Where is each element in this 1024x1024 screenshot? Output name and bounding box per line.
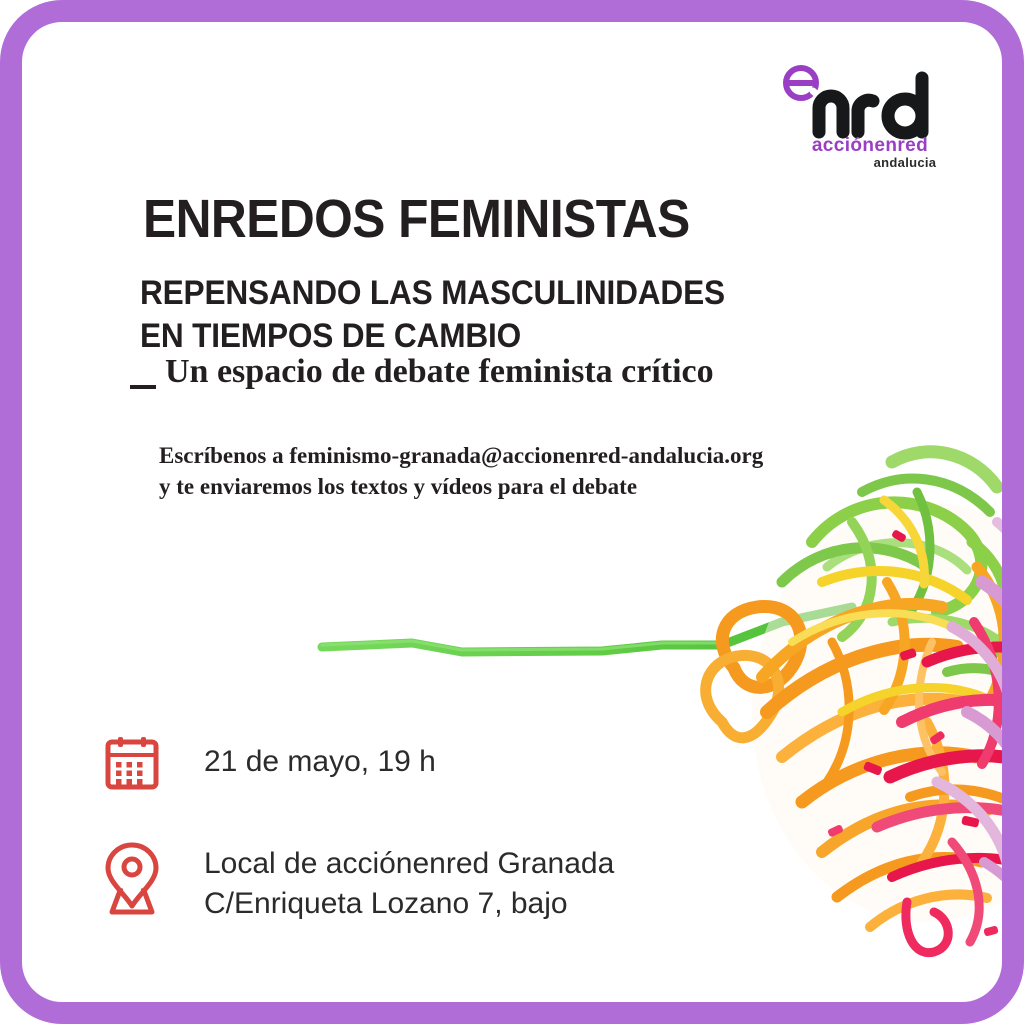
green-stem	[322, 607, 852, 652]
calendar-icon	[100, 728, 164, 812]
map-pin-icon	[100, 840, 164, 918]
event-date-text: 21 de mayo, 19 h	[204, 728, 436, 782]
acciónenred-logo: acciónenred andalucia	[774, 60, 964, 172]
logo-region: andalucia	[874, 155, 937, 170]
event-place-text: Local de acciónenred Granada C/Enriqueta…	[204, 840, 614, 924]
lede-dash-icon	[130, 385, 156, 389]
page-title: ENREDOS FEMINISTAS	[143, 188, 690, 250]
poster-inner-card: acciónenred andalucia ENREDOS FEMINISTAS…	[22, 22, 1002, 1002]
logo-nrd-mark	[819, 78, 922, 133]
poster-canvas: acciónenred andalucia ENREDOS FEMINISTAS…	[0, 0, 1024, 1024]
lede-text: Un espacio de debate feminista crítico	[165, 352, 714, 392]
contact-text: Escríbenos a feminismo-granada@accionenr…	[159, 440, 763, 502]
ribbon-ball	[706, 452, 1002, 953]
event-date-row: 21 de mayo, 19 h	[100, 728, 614, 812]
logo-e-mark	[786, 68, 820, 98]
page-subtitle: REPENSANDO LAS MASCULINIDADES EN TIEMPOS…	[140, 272, 725, 358]
event-info: 21 de mayo, 19 h Local de acciónenred Gr…	[100, 728, 614, 952]
lede-block: Un espacio de debate feminista crítico	[130, 352, 714, 392]
logo-org-name: acciónenred	[812, 135, 928, 156]
event-place-row: Local de acciónenred Granada C/Enriqueta…	[100, 840, 614, 924]
